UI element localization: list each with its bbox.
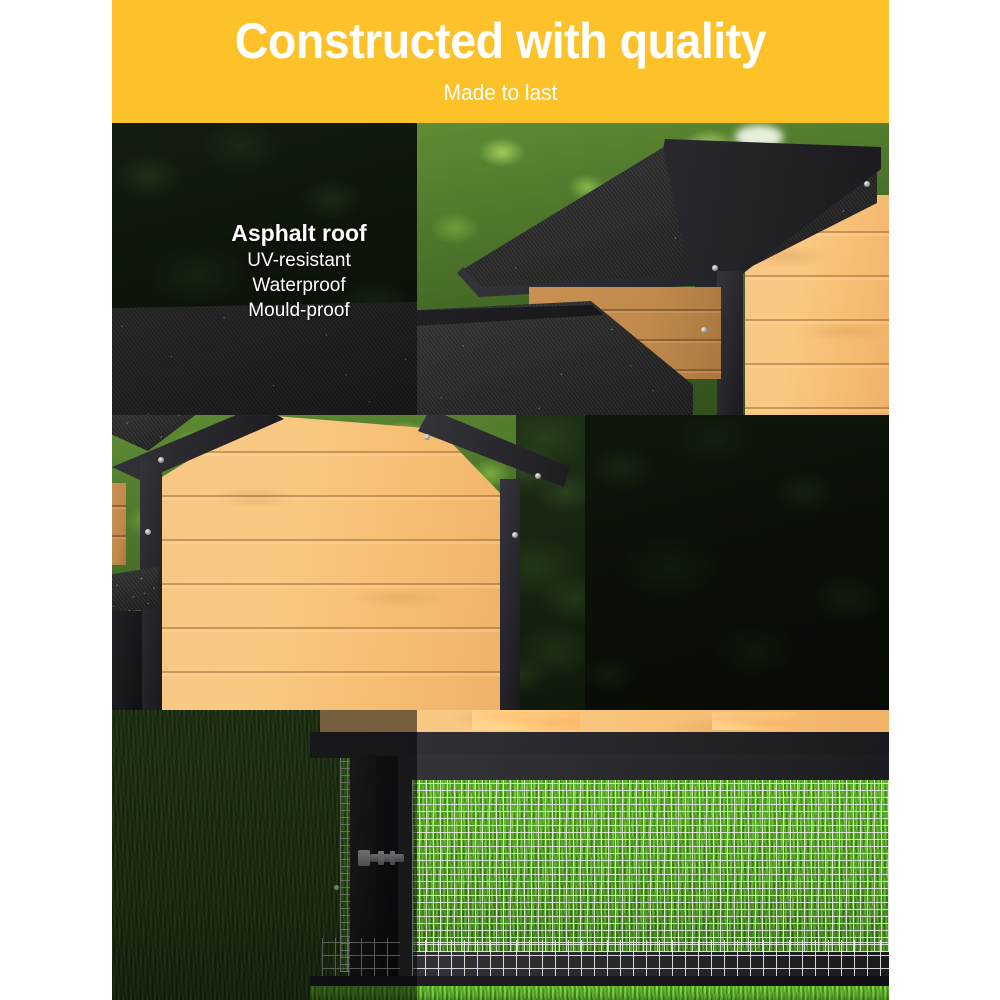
hutch-shadow-interior	[112, 611, 142, 710]
asphalt-edge-lower	[112, 567, 158, 615]
roof-screw-icon	[712, 265, 718, 271]
header-banner: Constructed with quality Made to last	[112, 0, 889, 123]
product-infographic: Constructed with quality Made to last	[0, 0, 1000, 1000]
roof-screw-icon	[864, 181, 870, 187]
wood-sliver	[112, 483, 126, 565]
gable-screw-icon	[424, 434, 430, 440]
wire-mesh-photo	[112, 710, 889, 1000]
roof-screw-icon	[701, 327, 707, 333]
feature-caption-asphalt-roof: Asphalt roof UV-resistant Waterproof Mou…	[204, 218, 394, 323]
feature-row-asphalt-roof: Asphalt roof UV-resistant Waterproof Mou…	[112, 123, 889, 415]
feature-photo-grid: Asphalt roof UV-resistant Waterproof Mou…	[112, 123, 889, 1000]
asphalt-roof-right-photo	[417, 123, 889, 415]
caption-scrim-mesh	[112, 710, 417, 1000]
caption-scrim-fir	[585, 415, 889, 710]
feature-row-fir-wood: Fir wood Weather-resistant Rot-resistant…	[112, 415, 889, 710]
gable-screw-icon	[512, 532, 518, 538]
fir-wood-right-photo	[585, 415, 889, 710]
feature-bullet: Mould-proof	[204, 298, 394, 323]
gable-screw-icon	[145, 529, 151, 535]
gable-post-right	[500, 479, 520, 710]
fir-wood-left-photo	[112, 415, 585, 710]
mesh-panel-right	[412, 780, 889, 952]
page-title: Constructed with quality	[139, 12, 862, 70]
post-stud-icon	[334, 885, 339, 890]
run-wood-block	[472, 710, 580, 730]
feature-heading: Asphalt roof	[204, 218, 394, 248]
page-subtitle: Made to last	[131, 80, 869, 106]
fir-wood-gable-panel	[150, 415, 506, 710]
feature-bullet: Waterproof	[204, 273, 394, 298]
feature-row-wire-mesh: Powder-coated wire mesh Rust-proof Well …	[112, 710, 889, 1000]
feature-bullet: UV-resistant	[204, 248, 394, 273]
run-wood-block	[712, 712, 796, 730]
gable-screw-icon	[535, 473, 541, 479]
gable-screw-icon	[158, 457, 164, 463]
